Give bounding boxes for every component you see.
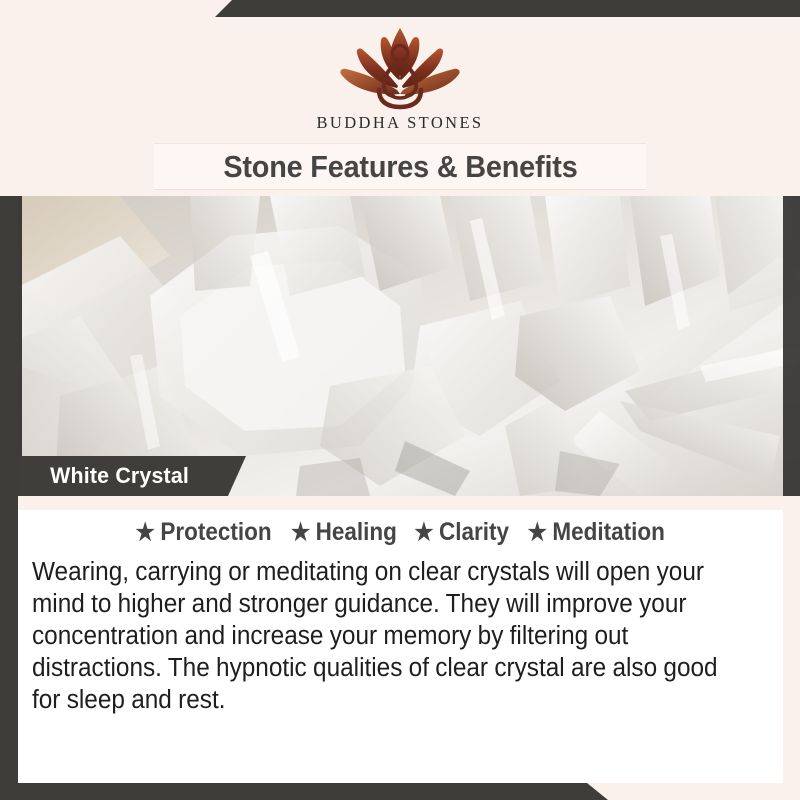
panel-top-tint [18, 496, 783, 510]
benefit-item: ★ Meditation [528, 518, 665, 547]
content-panel: ★ Protection ★ Healing ★ Clarity ★ Medit… [18, 496, 783, 783]
lotus-meditation-figure-icon [315, 22, 485, 110]
benefit-label: Meditation [553, 518, 666, 547]
stone-photo: White Crystal [0, 196, 800, 496]
description-text: Wearing, carrying or meditating on clear… [32, 556, 737, 716]
benefit-label: Protection [160, 518, 271, 547]
bottom-left-accent-bar [0, 783, 608, 800]
stone-name-banner: White Crystal [18, 456, 246, 496]
star-icon: ★ [528, 521, 547, 545]
crystal-cluster-image [0, 196, 800, 496]
stone-name: White Crystal [50, 463, 189, 489]
left-accent-strip [0, 196, 18, 783]
product-info-poster: BUDDHA STONES Stone Features & Benefits [0, 0, 800, 800]
star-icon: ★ [136, 521, 155, 545]
benefit-item: ★ Protection [136, 518, 272, 547]
brand-name: BUDDHA STONES [316, 113, 483, 133]
brand-logo-block: BUDDHA STONES [0, 22, 800, 133]
benefit-item: ★ Clarity [414, 518, 509, 547]
benefit-label: Clarity [439, 518, 509, 547]
title-banner: Stone Features & Benefits [154, 143, 646, 190]
benefit-item: ★ Healing [291, 518, 397, 547]
star-icon: ★ [291, 521, 310, 545]
page-title: Stone Features & Benefits [223, 149, 577, 185]
star-icon: ★ [414, 521, 433, 545]
benefit-label: Healing [316, 518, 397, 547]
benefits-list: ★ Protection ★ Healing ★ Clarity ★ Medit… [18, 518, 783, 547]
top-right-accent-bar [215, 0, 800, 17]
